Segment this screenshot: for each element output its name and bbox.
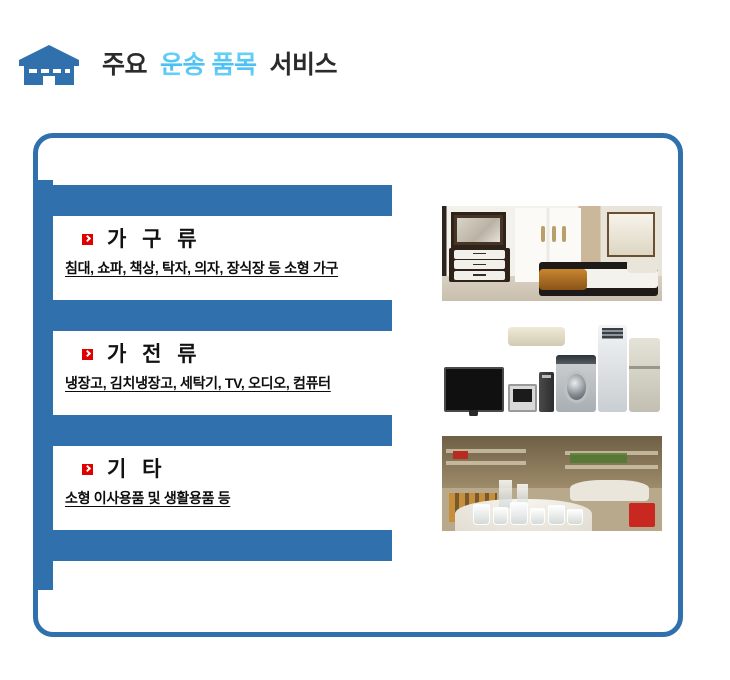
blue-bar-1 — [38, 185, 392, 216]
item-title-row: 가 전 류 — [82, 341, 202, 367]
page-title-accent: 운송 품목 — [154, 51, 262, 79]
item-card-appliances[interactable]: 가 전 류 냉장고, 김치냉장고, 세탁기, TV, 오디오, 컴퓨터 — [60, 331, 410, 411]
page-title-suffix: 서비스 — [269, 51, 337, 79]
blue-spine — [38, 180, 53, 590]
item-title: 가 구 류 — [107, 229, 202, 250]
panel-inner: 가 구 류 침대, 쇼파, 책상, 탁자, 의자, 장식장 등 소형 가구 — [38, 138, 678, 632]
arrow-bullet-icon — [82, 464, 93, 475]
warehouse-icon — [18, 43, 80, 87]
arrow-bullet-icon — [82, 349, 93, 360]
page-header: 주요운송 품목서비스 — [0, 34, 730, 96]
blue-bar-2 — [38, 300, 392, 331]
page-title-prefix: 주요 — [102, 51, 147, 79]
home-appliances-photo — [442, 321, 662, 416]
blue-bar-3 — [38, 415, 392, 446]
item-card-furniture[interactable]: 가 구 류 침대, 쇼파, 책상, 탁자, 의자, 장식장 등 소형 가구 — [60, 216, 410, 296]
items-panel: 가 구 류 침대, 쇼파, 책상, 탁자, 의자, 장식장 등 소형 가구 — [33, 133, 683, 637]
item-description: 냉장고, 김치냉장고, 세탁기, TV, 오디오, 컴퓨터 — [65, 373, 331, 393]
item-card-other[interactable]: 기 타 소형 이사용품 및 생활용품 등 — [60, 446, 410, 526]
housewares-store-photo — [442, 436, 662, 531]
arrow-bullet-icon — [82, 234, 93, 245]
item-title-row: 가 구 류 — [82, 226, 202, 252]
item-description: 침대, 쇼파, 책상, 탁자, 의자, 장식장 등 소형 가구 — [65, 258, 338, 278]
item-title: 기 타 — [107, 459, 166, 480]
item-title-row: 기 타 — [82, 456, 166, 482]
bedroom-furniture-photo — [442, 206, 662, 301]
page-title: 주요운송 품목서비스 — [102, 53, 337, 78]
item-description: 소형 이사용품 및 생활용품 등 — [65, 488, 230, 508]
blue-bar-4 — [38, 530, 392, 561]
item-title: 가 전 류 — [107, 344, 202, 365]
